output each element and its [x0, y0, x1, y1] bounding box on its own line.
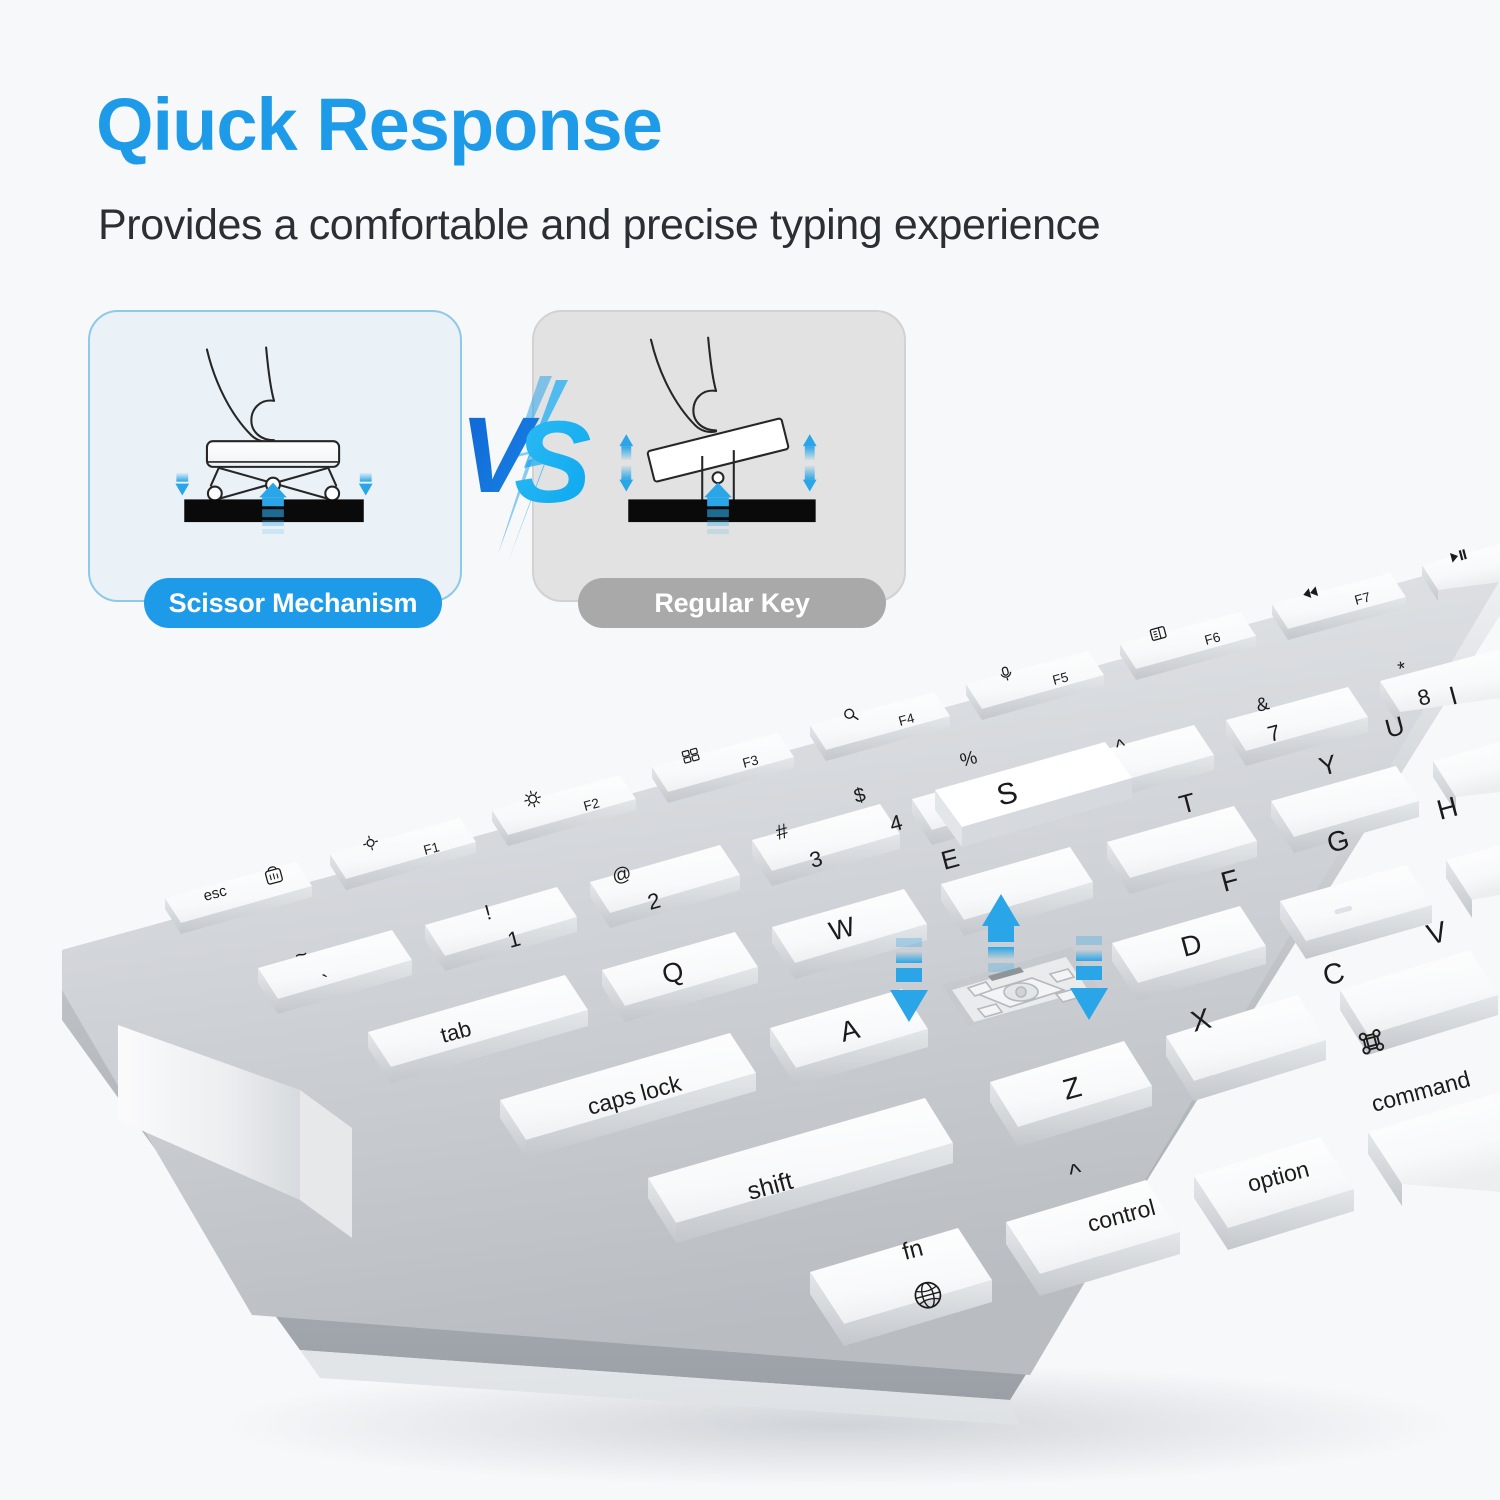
down-arrow-right-small [359, 473, 373, 496]
marketing-image: Qiuck Response Provides a comfortable an… [0, 0, 1500, 1500]
vs-badge: V S [452, 372, 612, 572]
double-arrow-right [803, 434, 817, 491]
vs-letter-s: S [514, 397, 591, 527]
keyboard-svg: esc [0, 520, 1500, 1500]
product-name: slim aluminium wireless keyboard [0, 0, 1, 1]
key-label-c: C [1320, 956, 1349, 992]
keyboard-legend-data: slim aluminium wireless keyboard S sciss… [0, 0, 1, 1]
key-label-v: V [1424, 916, 1452, 952]
down-arrow-left-small [175, 473, 189, 496]
page-subtitle: Provides a comfortable and precise typin… [98, 200, 1100, 252]
keyboard-product-image: esc [0, 520, 1500, 1500]
page-title: Qiuck Response [96, 88, 662, 162]
key-command[interactable]: command [1359, 1029, 1500, 1206]
double-arrow-left [619, 434, 633, 491]
key-option[interactable]: option [1194, 1137, 1354, 1250]
